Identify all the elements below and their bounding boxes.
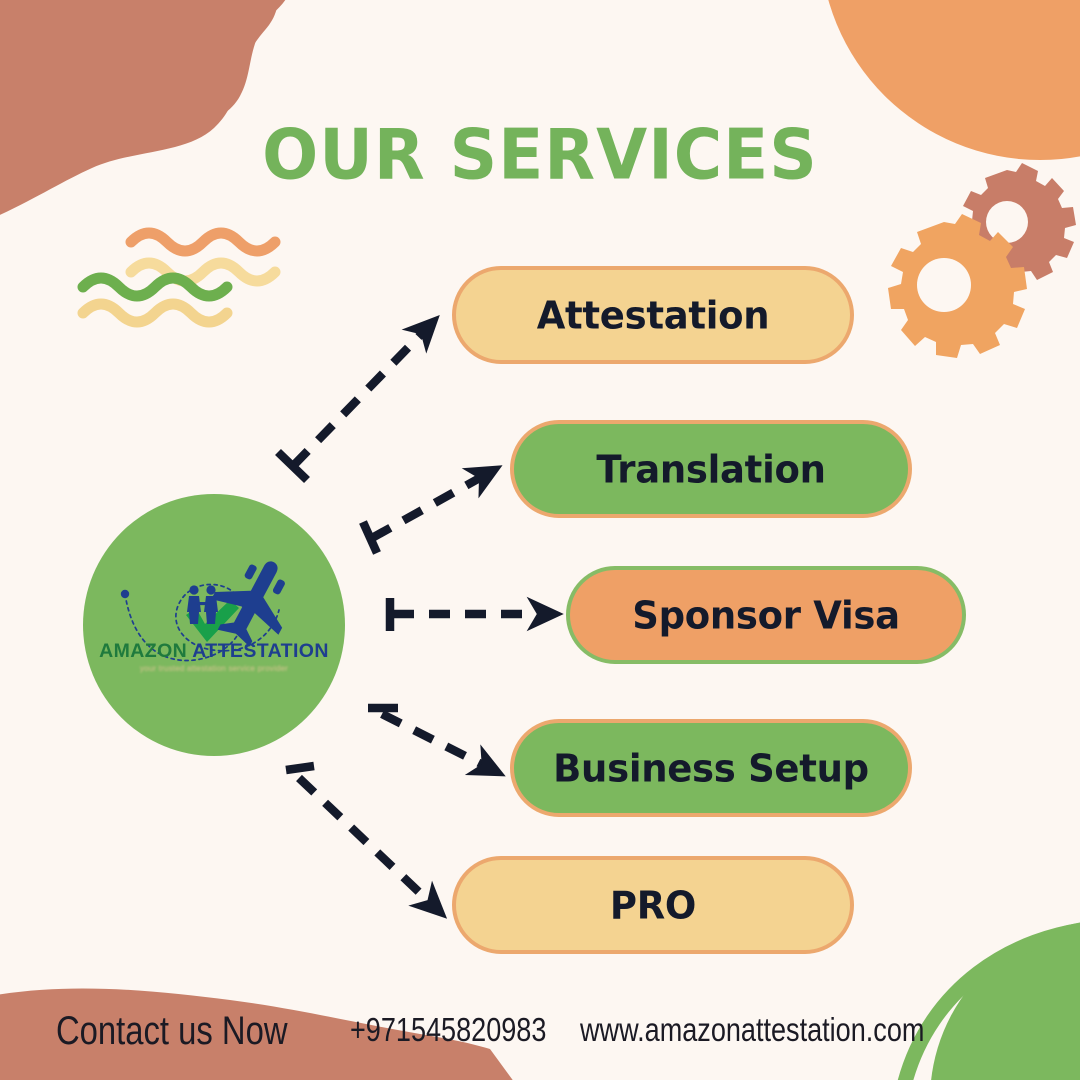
arrow-to-business-setup — [368, 708, 497, 772]
footer-cta-label: Contact us Now — [56, 1009, 288, 1054]
arrow-to-pro — [286, 766, 440, 912]
footer-bar: Contact us Now +971545820983 www.amazona… — [0, 970, 1080, 1080]
arrow-to-translation — [363, 470, 494, 553]
arrow-to-sponsor-visa — [390, 598, 554, 631]
footer-website[interactable]: www.amazonattestation.com — [580, 1011, 924, 1049]
arrow-to-attestation — [278, 322, 433, 480]
connector-arrows — [0, 0, 1080, 1080]
poster-canvas: OUR SERVICES Attestation Translation Spo… — [0, 0, 1080, 1080]
footer-phone[interactable]: +971545820983 — [350, 1011, 546, 1049]
